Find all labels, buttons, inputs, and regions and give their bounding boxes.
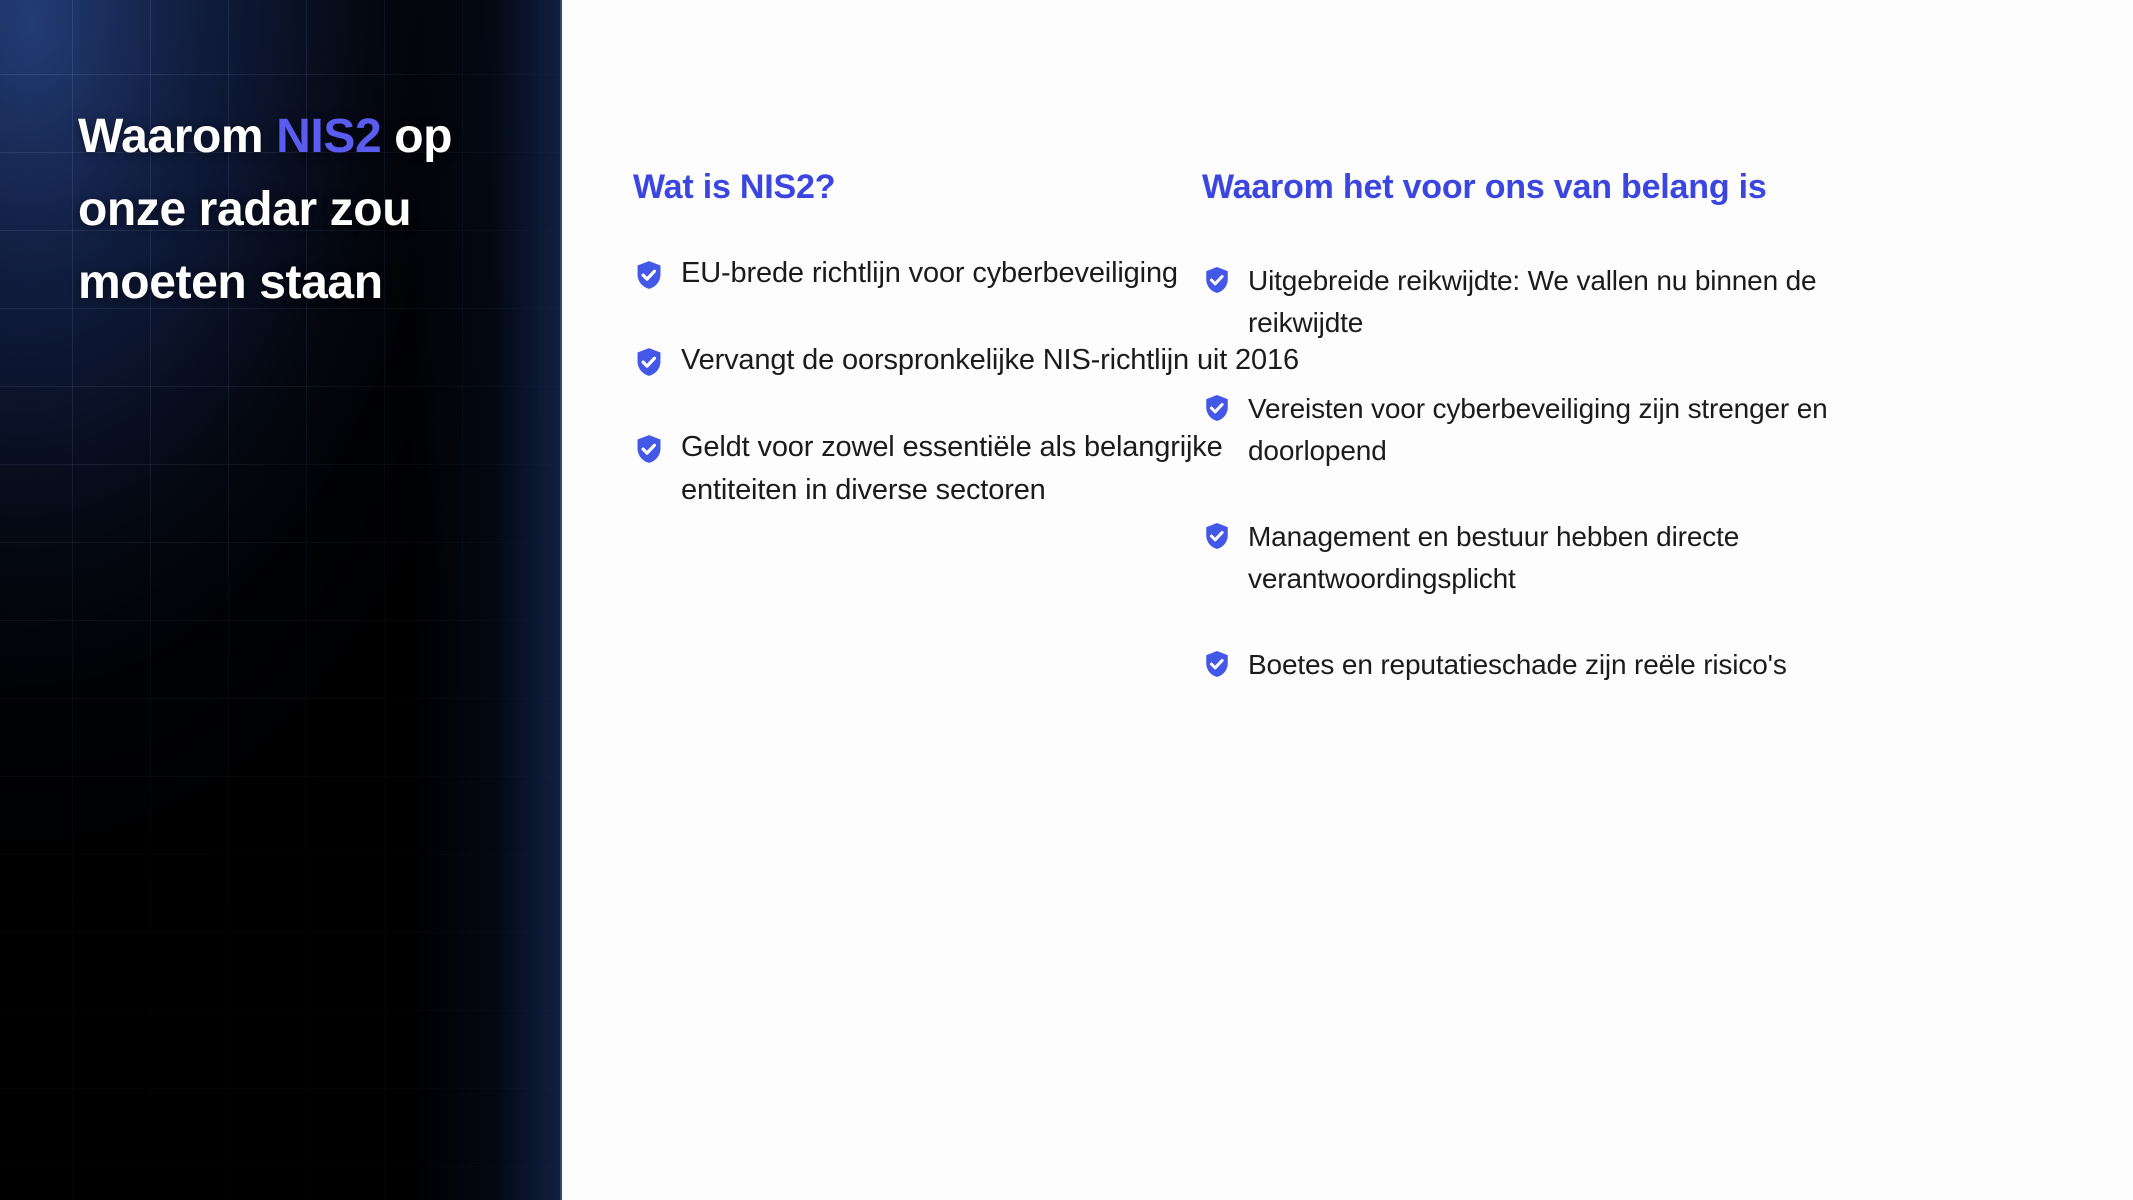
list-item: Management en bestuur hebben directe ver… xyxy=(1202,516,1862,600)
shield-check-icon xyxy=(633,433,665,465)
title-panel: Waarom NIS2 op onze radar zou moeten sta… xyxy=(0,0,562,1200)
slide-title-segment-1: Waarom xyxy=(78,110,276,163)
list-item-label: Management en bestuur hebben directe ver… xyxy=(1248,516,1862,600)
list-item-label: Uitgebreide reikwijdte: We vallen nu bin… xyxy=(1248,260,1862,344)
list-item-label: EU-brede richtlijn voor cyberbeveiliging xyxy=(681,252,1178,295)
shield-check-icon xyxy=(1202,649,1232,679)
slide-root: Waarom NIS2 op onze radar zou moeten sta… xyxy=(0,0,2133,1200)
shield-check-icon xyxy=(633,259,665,291)
shield-check-icon xyxy=(633,346,665,378)
bullet-list: Uitgebreide reikwijdte: We vallen nu bin… xyxy=(1202,260,1862,686)
shield-check-icon xyxy=(1202,393,1232,423)
shield-check-icon xyxy=(1202,521,1232,551)
column-heading: Waarom het voor ons van belang is xyxy=(1202,160,1862,214)
list-item-label: Boetes en reputatieschade zijn reële ris… xyxy=(1248,644,1787,686)
content-area: Wat is NIS2? EU-brede richtlijn voor cyb… xyxy=(562,0,2133,1200)
list-item: Boetes en reputatieschade zijn reële ris… xyxy=(1202,644,1862,686)
slide-title-highlight: NIS2 xyxy=(276,110,381,163)
shield-check-icon xyxy=(1202,265,1232,295)
list-item-label: Vereisten voor cyberbeveiliging zijn str… xyxy=(1248,388,1862,472)
list-item: Uitgebreide reikwijdte: We vallen nu bin… xyxy=(1202,260,1862,344)
list-item: Vereisten voor cyberbeveiliging zijn str… xyxy=(1202,388,1862,472)
slide-title: Waarom NIS2 op onze radar zou moeten sta… xyxy=(78,100,548,319)
content-column-why-it-matters: Waarom het voor ons van belang is Uitgeb… xyxy=(1202,160,1862,730)
